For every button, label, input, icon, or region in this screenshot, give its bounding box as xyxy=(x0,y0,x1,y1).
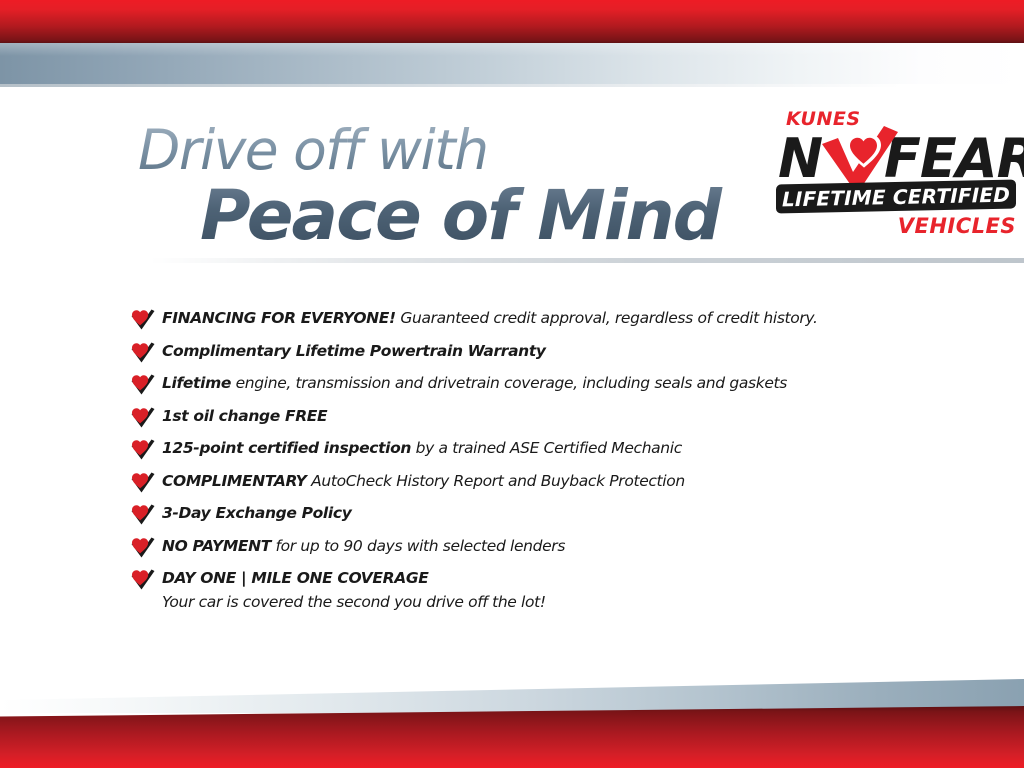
list-item: COMPLIMENTARY AutoCheck History Report a… xyxy=(130,471,950,493)
logo-lifetime-certified-bar: LIFETIME CERTIFIED xyxy=(776,179,1016,213)
logo-lifetime-certified-text: LIFETIME CERTIFIED xyxy=(776,179,1016,213)
list-item-bold: 125-point certified inspection xyxy=(162,439,411,457)
list-item-bold: Lifetime xyxy=(162,374,231,392)
logo-word-fear: FEAR xyxy=(884,132,1024,186)
list-item-bold: DAY ONE | MILE ONE COVERAGE xyxy=(162,569,428,587)
list-item-bold: NO PAYMENT xyxy=(162,537,271,555)
list-item-text: DAY ONE | MILE ONE COVERAGE xyxy=(162,568,428,589)
list-item: Lifetime engine, transmission and drivet… xyxy=(130,373,950,395)
list-item: FINANCING FOR EVERYONE! Guaranteed credi… xyxy=(130,308,950,330)
bottom-red-band xyxy=(0,706,1024,768)
list-item-text: NO PAYMENT for up to 90 days with select… xyxy=(162,536,565,557)
list-item-text: FINANCING FOR EVERYONE! Guaranteed credi… xyxy=(162,308,818,329)
heart-check-icon xyxy=(130,309,155,330)
list-item-rest: by a trained ASE Certified Mechanic xyxy=(411,439,682,457)
list-item: 1st oil change FREE xyxy=(130,406,950,428)
list-item: NO PAYMENT for up to 90 days with select… xyxy=(130,536,950,558)
list-item-rest: Guaranteed credit approval, regardless o… xyxy=(396,309,818,327)
heart-check-icon xyxy=(130,439,155,460)
heart-check-icon xyxy=(130,407,155,428)
top-steel-band xyxy=(0,43,1024,84)
list-item-text: 125-point certified inspection by a trai… xyxy=(162,438,682,459)
list-item-bold: COMPLIMENTARY xyxy=(162,472,307,490)
list-item-rest: AutoCheck History Report and Buyback Pro… xyxy=(307,472,685,490)
top-red-band xyxy=(0,0,1024,43)
list-item-rest: engine, transmission and drivetrain cove… xyxy=(231,374,787,392)
logo-vehicles-text: VEHICLES xyxy=(898,214,1016,238)
headline: Drive off with Peace of Mind xyxy=(138,122,758,254)
list-item: DAY ONE | MILE ONE COVERAGE Your car is … xyxy=(130,568,950,613)
list-item-main: DAY ONE | MILE ONE COVERAGE xyxy=(130,568,950,590)
list-item-bold: FINANCING FOR EVERYONE! xyxy=(162,309,396,327)
heart-check-icon xyxy=(130,504,155,525)
headline-line-1: Drive off with xyxy=(138,122,758,178)
list-item-text: 3-Day Exchange Policy xyxy=(162,503,351,524)
list-item-subtext: Your car is covered the second you drive… xyxy=(162,591,950,613)
list-item-text: Complimentary Lifetime Powertrain Warran… xyxy=(162,341,546,362)
list-item-bold: Complimentary Lifetime Powertrain Warran… xyxy=(162,342,546,360)
promotional-banner: Drive off with Peace of Mind KUNES N FEA… xyxy=(0,0,1024,768)
heart-check-icon xyxy=(130,472,155,493)
list-item-rest: for up to 90 days with selected lenders xyxy=(271,537,565,555)
kunes-no-fear-logo: KUNES N FEAR LIFETIME CERTIFIED VEHICLES xyxy=(770,108,1018,248)
heart-check-icon xyxy=(130,537,155,558)
headline-line-2: Peace of Mind xyxy=(200,178,758,254)
heart-check-icon xyxy=(130,569,155,590)
heart-check-icon xyxy=(130,374,155,395)
list-item: 3-Day Exchange Policy xyxy=(130,503,950,525)
list-item: Complimentary Lifetime Powertrain Warran… xyxy=(130,341,950,363)
headline-divider xyxy=(150,258,1024,263)
list-item-text: 1st oil change FREE xyxy=(162,406,327,427)
top-band-shadow xyxy=(0,84,1024,87)
benefits-list: FINANCING FOR EVERYONE! Guaranteed credi… xyxy=(130,308,950,613)
list-item-bold: 1st oil change FREE xyxy=(162,407,327,425)
list-item-text: COMPLIMENTARY AutoCheck History Report a… xyxy=(162,471,685,492)
list-item-bold: 3-Day Exchange Policy xyxy=(162,504,351,522)
list-item: 125-point certified inspection by a trai… xyxy=(130,438,950,460)
heart-check-icon xyxy=(130,342,155,363)
list-item-text: Lifetime engine, transmission and drivet… xyxy=(162,373,787,394)
